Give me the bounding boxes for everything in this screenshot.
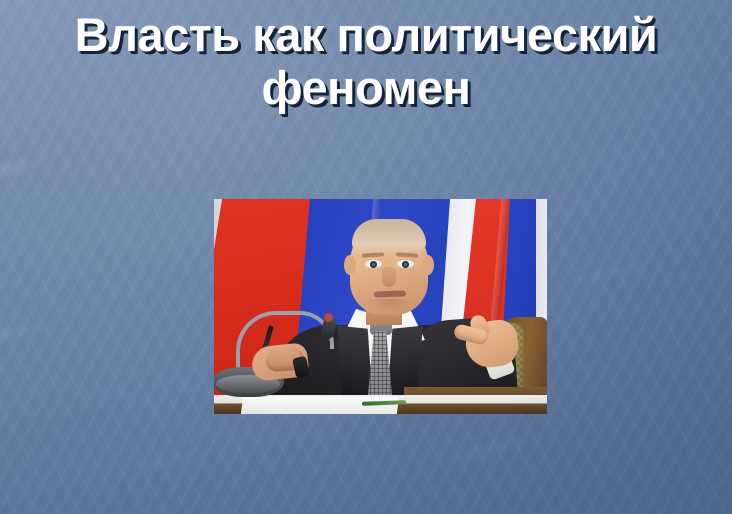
presentation-slide: Власть как политический феномен (0, 0, 732, 514)
slide-photo (214, 199, 547, 414)
papers-on-table (241, 397, 399, 414)
pupil-right (402, 261, 409, 268)
mouth (374, 290, 406, 297)
chin-shadow (366, 299, 414, 311)
ear-left (344, 255, 356, 275)
pupil-left (370, 261, 377, 268)
nose (382, 267, 396, 287)
microphone-indicator (324, 313, 333, 322)
ear-right (422, 255, 434, 275)
suit-lapel-left (337, 326, 372, 401)
slide-title: Власть как политический феномен (0, 8, 732, 114)
hair (352, 219, 426, 255)
